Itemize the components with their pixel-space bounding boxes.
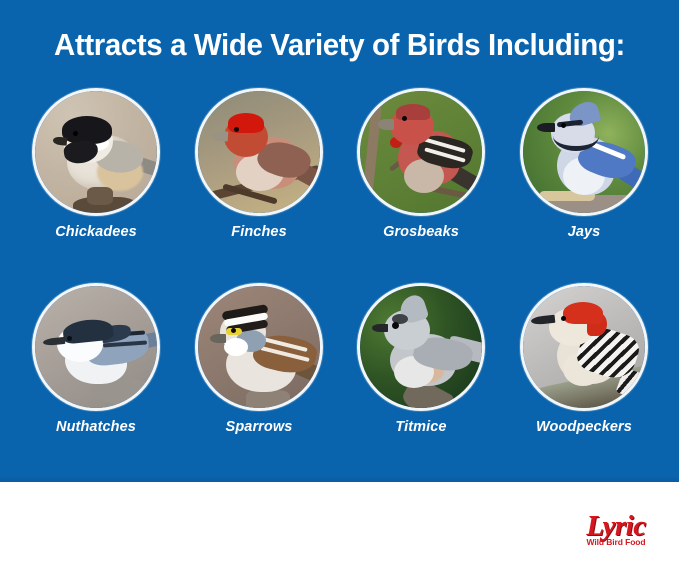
bird-label: Jays [504,224,664,240]
bird-grid: Chickadees [0,88,679,478]
bird-grid-row-2: Nuthatches [0,283,679,478]
bird-grid-row-1: Chickadees [0,88,679,283]
bird-cell-jays: Jays [504,88,664,240]
bird-photo-circle [520,283,648,411]
bird-cell-chickadees: Chickadees [16,88,176,240]
white-breasted-nuthatch-photo [35,286,157,408]
bird-photo-circle [32,88,160,216]
bird-label: Sparrows [179,419,339,435]
logo-wordmark: Lyric [566,512,666,540]
bird-photo-circle [32,283,160,411]
bird-label: Titmice [341,419,501,435]
bird-photo-circle [357,283,485,411]
bird-label: Woodpeckers [504,419,664,435]
bird-label: Chickadees [16,224,176,240]
bird-label: Nuthatches [16,419,176,435]
bird-label: Finches [179,224,339,240]
bird-label: Grosbeaks [341,224,501,240]
page-title: Attracts a Wide Variety of Birds Includi… [17,27,662,63]
bird-cell-sparrows: Sparrows [179,283,339,435]
bird-cell-grosbeaks: Grosbeaks [341,88,501,240]
bird-photo-circle [357,88,485,216]
bird-photo-circle [195,88,323,216]
bird-cell-titmice: Titmice [341,283,501,435]
tufted-titmouse-photo [360,286,482,408]
bird-cell-woodpeckers: Woodpeckers [504,283,664,435]
black-capped-chickadee-photo [35,91,157,213]
lyric-brand-logo: Lyric Wild Bird Food [566,512,666,558]
blue-jay-photo [523,91,645,213]
bird-photo-circle [195,283,323,411]
bird-food-promo-poster: Attracts a Wide Variety of Birds Includi… [0,0,679,566]
pine-grosbeak-photo [360,91,482,213]
house-finch-photo [198,91,320,213]
logo-tagline: Wild Bird Food [566,537,666,547]
white-throated-sparrow-photo [198,286,320,408]
red-bellied-woodpecker-photo [523,286,645,408]
panel-bottom-edge [0,478,679,482]
bird-cell-finches: Finches [179,88,339,240]
bird-cell-nuthatches: Nuthatches [16,283,176,435]
bird-photo-circle [520,88,648,216]
